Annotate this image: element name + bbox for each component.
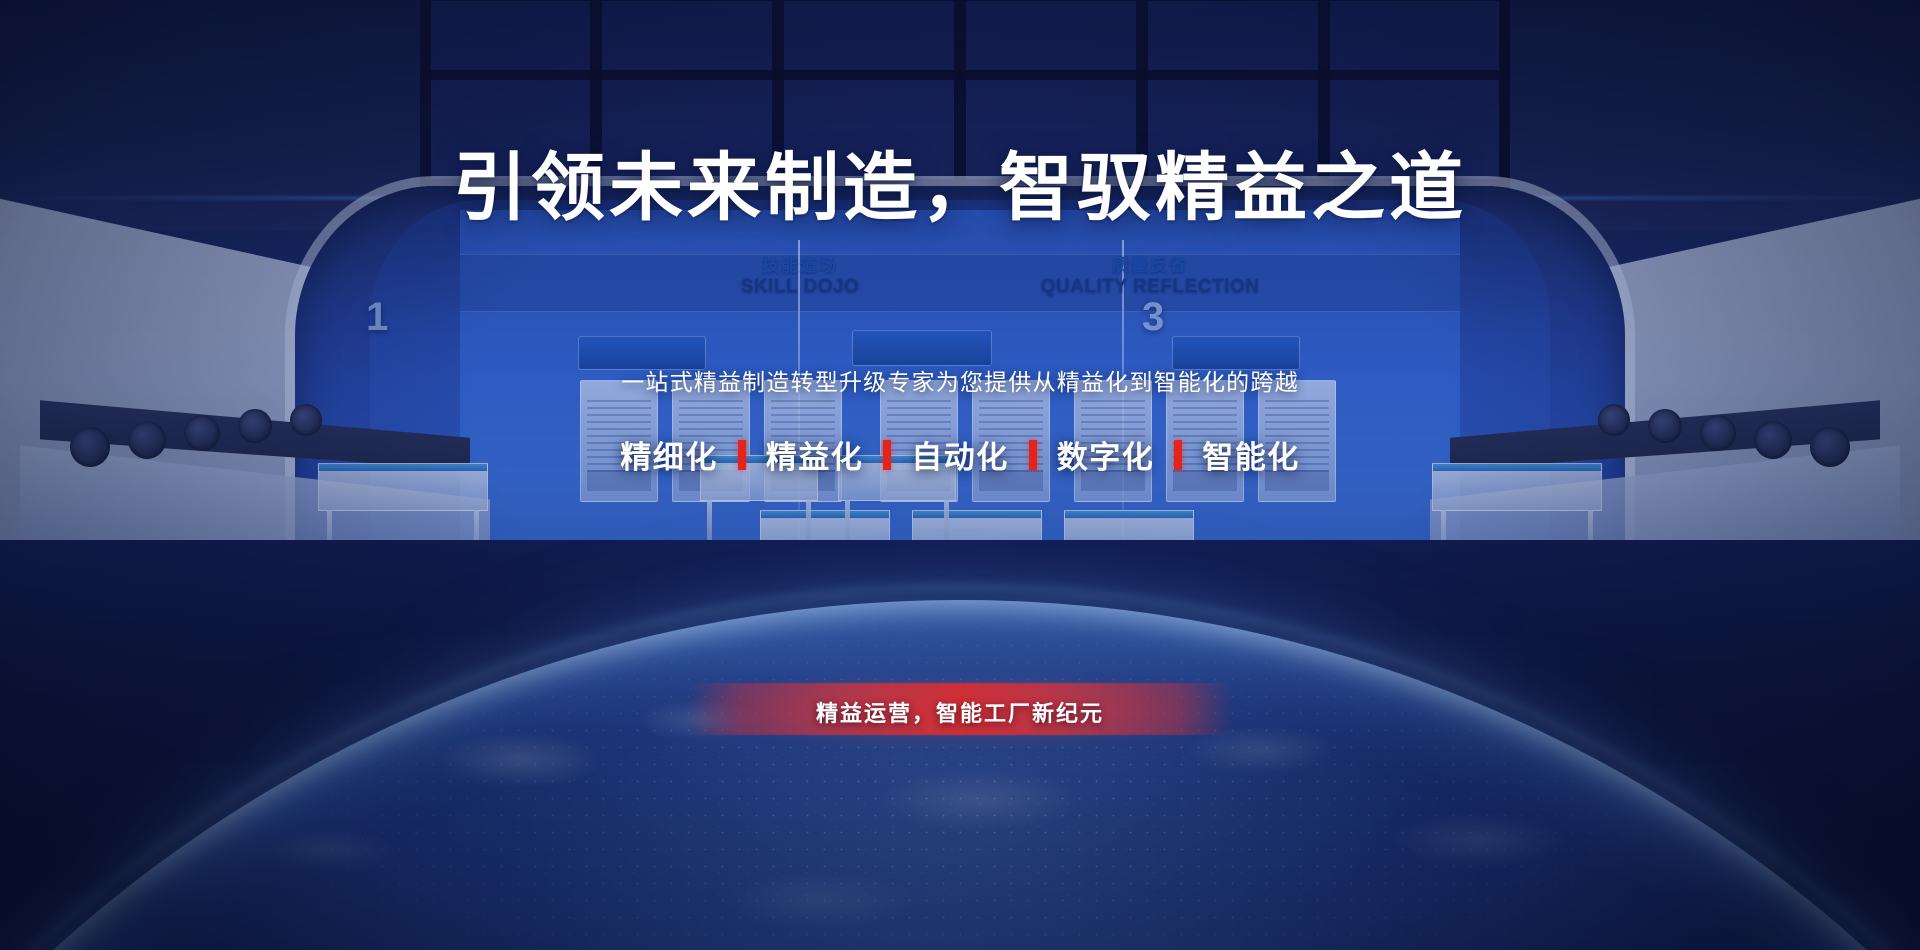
hero-content: 引领未来制造，智驭精益之道 一站式精益制造转型升级专家为您提供从精益化到智能化的… (0, 0, 1920, 950)
keyword-separator-icon (738, 440, 746, 470)
keyword-item: 自动化 (911, 432, 1009, 477)
keyword-separator-icon (883, 440, 891, 470)
bottom-banner-text: 精益运营，智能工厂新纪元 (0, 696, 1920, 728)
hero-banner: 技能道场 SKILL DOJO 质量反省 QUALITY REFLECTION (0, 0, 1920, 950)
keyword-item: 精益化 (766, 432, 864, 477)
keyword-item: 数字化 (1057, 432, 1155, 477)
keyword-list: 精细化 精益化 自动化 数字化 智能化 (0, 432, 1920, 477)
keyword-separator-icon (1174, 440, 1182, 470)
keyword-item: 精细化 (620, 432, 718, 477)
hero-headline: 引领未来制造，智驭精益之道 (0, 128, 1920, 235)
keyword-item: 智能化 (1202, 432, 1300, 477)
hero-subtitle: 一站式精益制造转型升级专家为您提供从精益化到智能化的跨越 (0, 363, 1920, 397)
keyword-separator-icon (1029, 440, 1037, 470)
